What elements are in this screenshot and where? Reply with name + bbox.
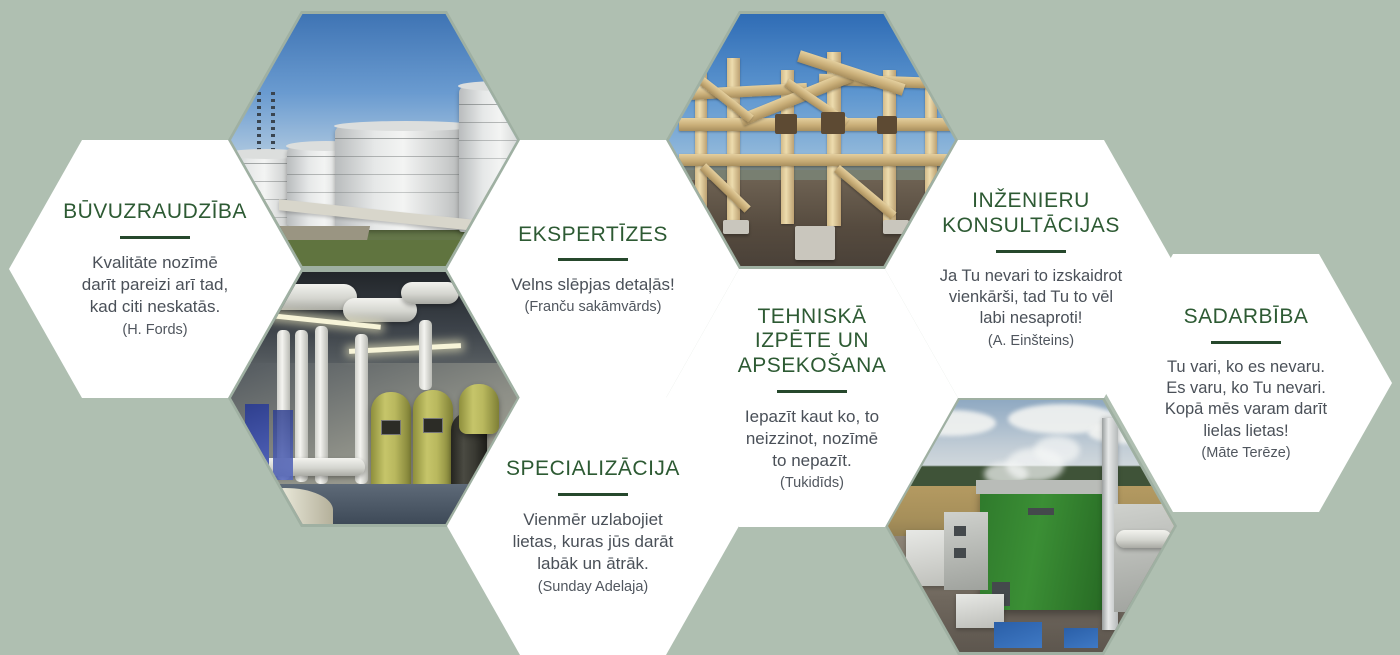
hex-author-sadarbiba: (Māte Terēze) — [1201, 445, 1290, 461]
hex-quote-inzenieru-konsultacijas: Ja Tu nevari to izskaidrot vienkārši, ta… — [940, 266, 1123, 330]
hex-author-ekspertizes: (Franču sakāmvārds) — [525, 299, 662, 315]
title-divider — [558, 258, 628, 261]
title-divider — [558, 493, 628, 496]
hex-author-specializacija: (Sunday Adelaja) — [538, 579, 648, 595]
hex-quote-ekspertizes: Velns slēpjas detaļās! — [511, 274, 675, 296]
hex-title-ekspertizes: EKSPERTĪZES — [518, 223, 668, 248]
hex-quote-sadarbiba: Tu vari, ko es nevaru. Es varu, ko Tu ne… — [1165, 357, 1327, 443]
title-divider — [996, 250, 1066, 253]
hex-author-inzenieru-konsultacijas: (A. Einšteins) — [988, 333, 1074, 349]
title-divider — [777, 390, 847, 393]
hex-author-tehniska-izpete: (Tukidīds) — [780, 475, 844, 491]
hex-author-buvuzraudziba: (H. Fords) — [122, 322, 187, 338]
hex-title-buvuzraudziba: BŪVUZRAUDZĪBA — [63, 200, 247, 225]
hex-quote-buvuzraudziba: Kvalitāte nozīmē darīt pareizi arī tad, … — [82, 252, 228, 318]
title-divider — [1211, 341, 1281, 344]
hex-title-sadarbiba: SADARBĪBA — [1184, 305, 1309, 330]
title-divider — [120, 236, 190, 239]
hex-quote-tehniska-izpete: Iepazīt kaut ko, to neizzinot, nozīmē to… — [745, 406, 879, 472]
hex-title-inzenieru-konsultacijas: INŽENIERU KONSULTĀCIJAS — [942, 189, 1120, 239]
hex-quote-specializacija: Vienmēr uzlabojiet lietas, kuras jūs dar… — [513, 509, 674, 575]
hex-title-specializacija: SPECIALIZĀCIJA — [506, 457, 680, 482]
hex-title-tehniska-izpete: TEHNISKĀ IZPĒTE UN APSEKOŠANA — [738, 305, 887, 379]
hexagon-honeycomb-layout: BŪVUZRAUDZĪBA Kvalitāte nozīmē darīt par… — [0, 0, 1400, 655]
